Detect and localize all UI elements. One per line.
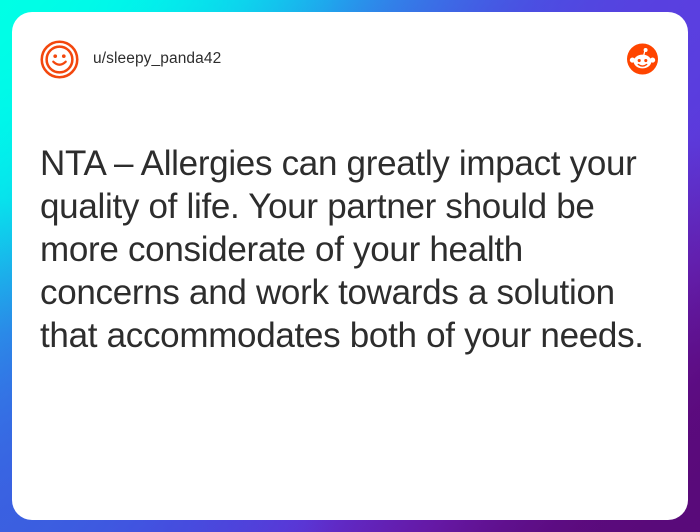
smiley-face-avatar-icon (40, 40, 79, 79)
username-label: u/sleepy_panda42 (93, 50, 221, 68)
avatar (40, 40, 79, 79)
screenshot-stage: u/sleepy_panda42 (0, 0, 700, 532)
quote-body: NTA – Allergies can greatly impact your … (40, 142, 660, 357)
quote-card: u/sleepy_panda42 (12, 12, 688, 520)
reddit-snoo-icon (627, 44, 658, 75)
quote-text: NTA – Allergies can greatly impact your … (40, 142, 650, 357)
card-header: u/sleepy_panda42 (40, 38, 660, 80)
